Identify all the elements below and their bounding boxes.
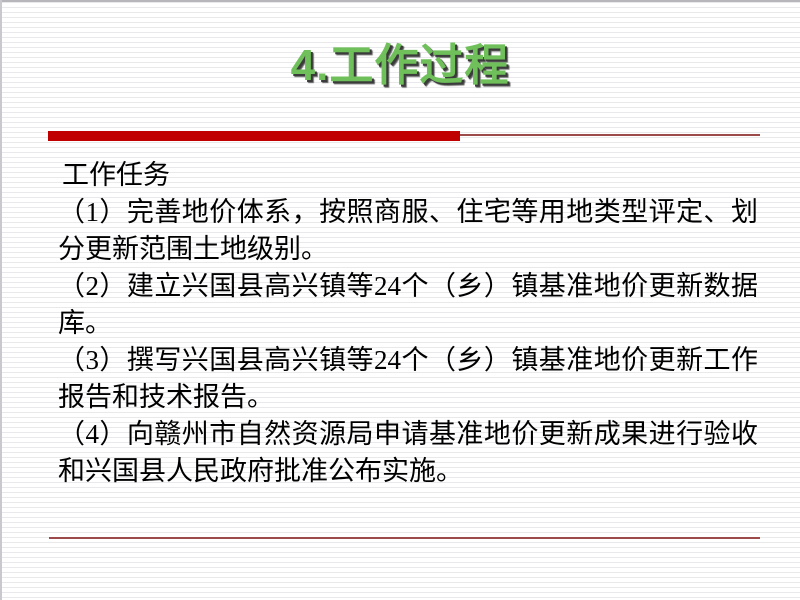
body-heading: 工作任务 bbox=[58, 157, 758, 194]
bottom-divider bbox=[49, 537, 760, 539]
slide-title-block: 4.工作过程 bbox=[0, 44, 800, 88]
body-item-2: （2）建立兴国县高兴镇等24个（乡）镇基准地价更新数据库。 bbox=[58, 268, 758, 342]
top-divider-thin-line bbox=[460, 134, 760, 136]
slide-body: 工作任务 （1）完善地价体系，按照商服、住宅等用地类型评定、划分更新范围土地级别… bbox=[58, 157, 758, 490]
top-divider bbox=[48, 131, 760, 141]
body-item-3: （3）撰写兴国县高兴镇等24个（乡）镇基准地价更新工作报告和技术报告。 bbox=[58, 342, 758, 416]
top-divider-thick-bar bbox=[48, 131, 460, 141]
slide-title: 4.工作过程 bbox=[291, 44, 510, 88]
body-item-4: （4）向赣州市自然资源局申请基准地价更新成果进行验收和兴国县人民政府批准公布实施… bbox=[58, 416, 758, 490]
body-item-1: （1）完善地价体系，按照商服、住宅等用地类型评定、划分更新范围土地级别。 bbox=[58, 194, 758, 268]
presentation-slide: 4.工作过程 工作任务 （1）完善地价体系，按照商服、住宅等用地类型评定、划分更… bbox=[0, 0, 800, 600]
